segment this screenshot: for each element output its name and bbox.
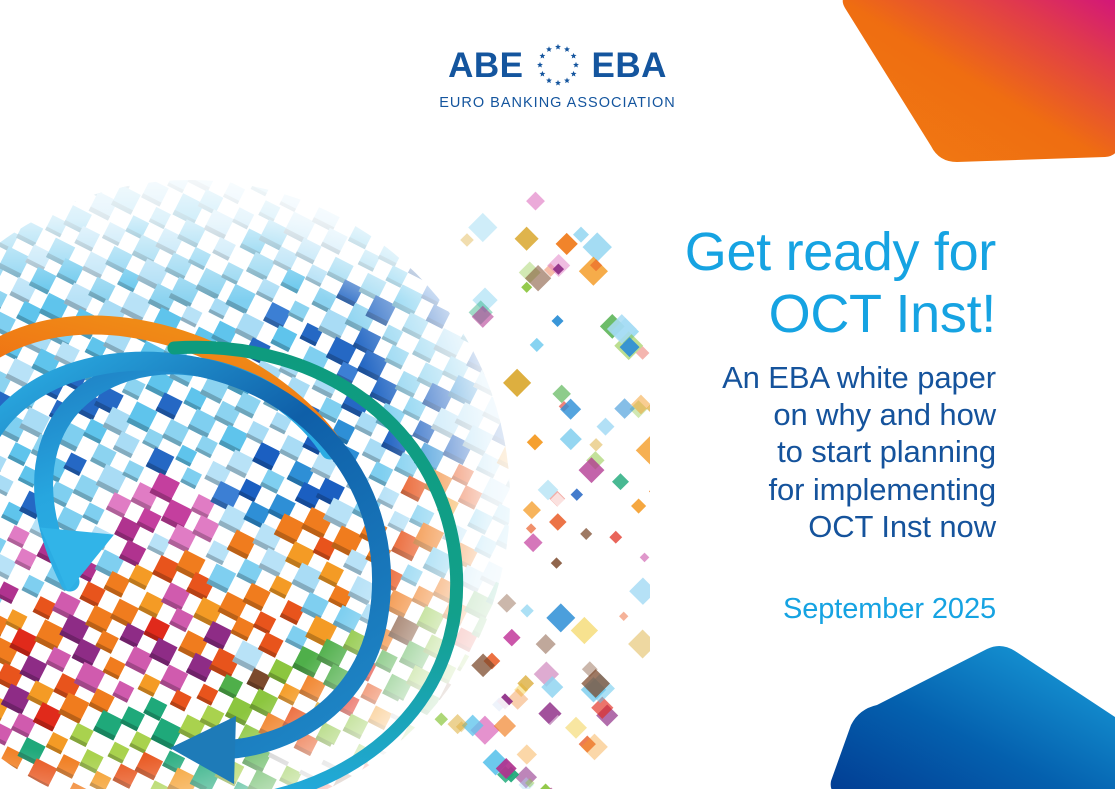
subtitle-line-5: OCT Inst now	[536, 508, 996, 545]
subtitle-line-4: for implementing	[536, 471, 996, 508]
logo-word-abe: ABE	[448, 48, 523, 83]
publication-date: September 2025	[536, 593, 996, 626]
subtitle-line-1: An EBA white paper	[536, 359, 996, 396]
subtitle-line-3: to start planning	[536, 433, 996, 470]
subtitle-line-2: on why and how	[536, 396, 996, 433]
page-subtitle: An EBA white paper on why and how to sta…	[536, 359, 996, 545]
cover-page: ABE EBA EURO BANKING ASSOCIATION Get rea…	[0, 0, 1115, 789]
bottom-right-blue-shape	[829, 613, 1115, 789]
logo-word-eba: EBA	[592, 48, 667, 83]
cover-text-block: Get ready for OCT Inst! An EBA white pap…	[536, 222, 996, 626]
page-title: Get ready for OCT Inst!	[536, 222, 996, 345]
eu-stars-circle-icon	[528, 42, 588, 88]
title-line-2: OCT Inst!	[536, 284, 996, 346]
title-line-1: Get ready for	[536, 222, 996, 284]
abe-eba-logo: ABE EBA EURO BANKING ASSOCIATION	[0, 42, 1115, 111]
logo-tagline: EURO BANKING ASSOCIATION	[439, 95, 675, 111]
logo-mark: ABE EBA	[448, 42, 667, 88]
